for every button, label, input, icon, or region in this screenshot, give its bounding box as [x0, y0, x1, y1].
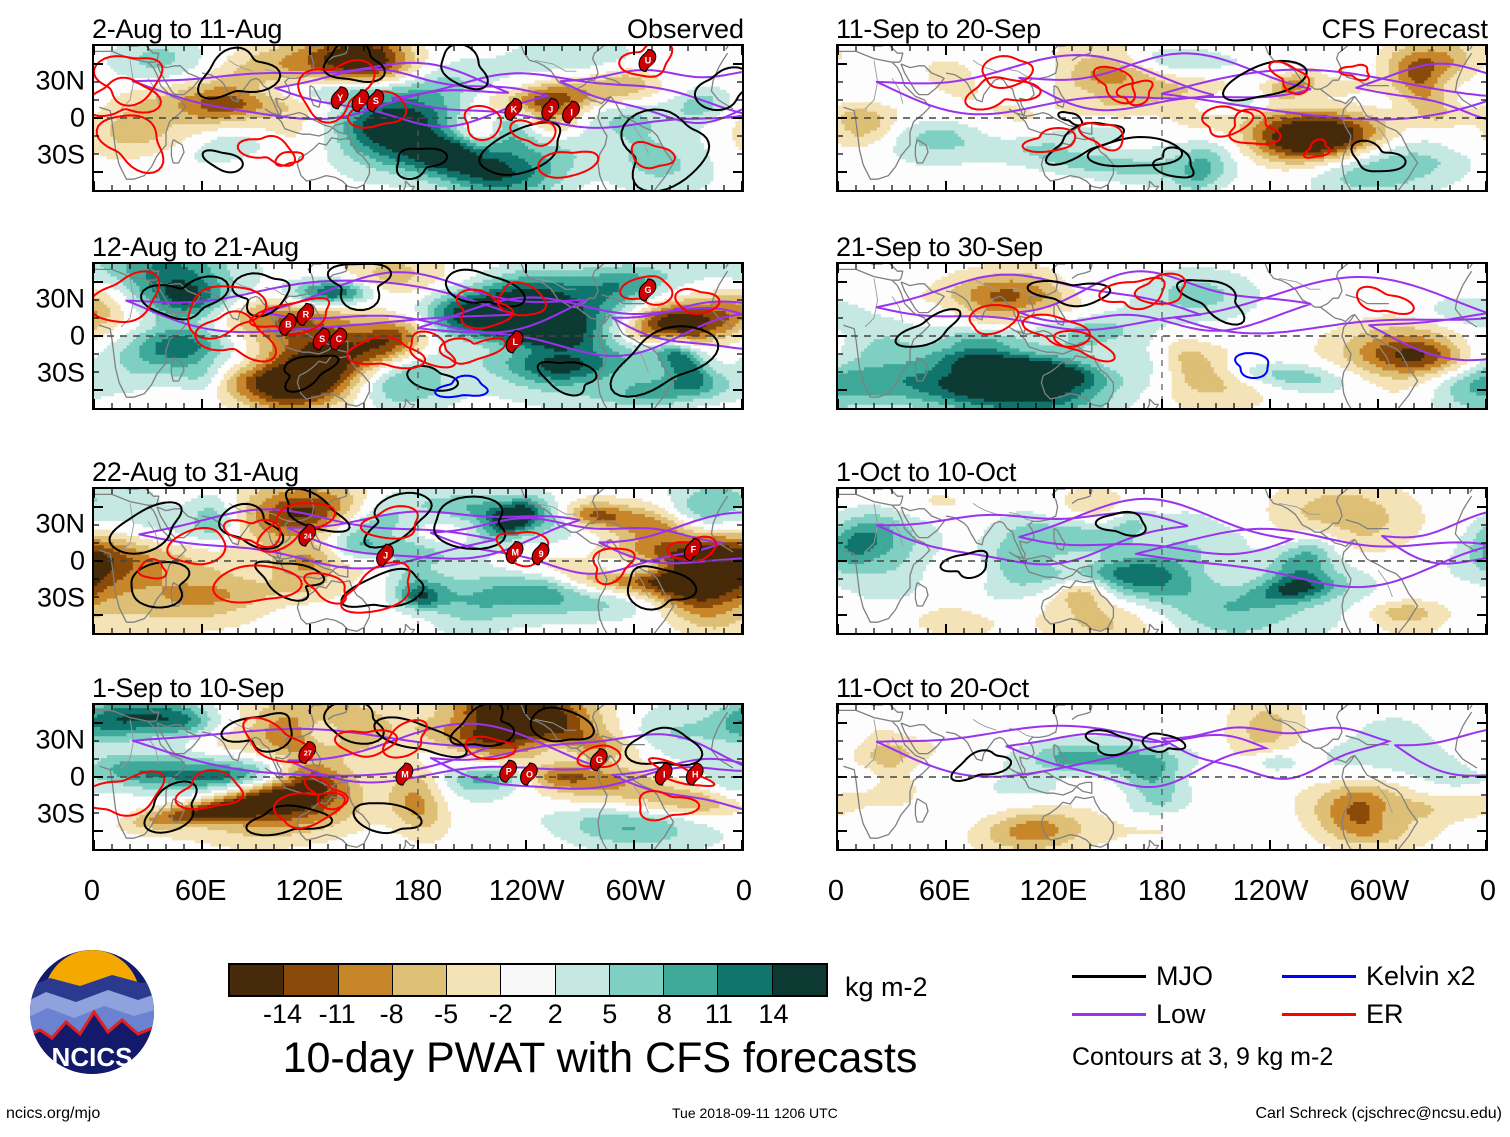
- map-canvas: 27MPOGIH: [92, 703, 744, 851]
- map-canvas: BRSCLG: [92, 262, 744, 410]
- legend-line-er: [1282, 1013, 1356, 1016]
- panel-title: 21-Sep to 30-Sep: [836, 232, 1043, 263]
- map-svg: [838, 489, 1486, 633]
- column-label-observed: Observed: [627, 14, 744, 45]
- panel-title: 22-Aug to 31-Aug: [92, 457, 299, 488]
- colorbar-swatch-9: [718, 965, 772, 995]
- map-canvas: [836, 262, 1488, 410]
- y-tick-label: 30N: [35, 509, 85, 540]
- legend-label-mjo: MJO: [1156, 961, 1213, 992]
- panel-title: 11-Sep to 20-Sep: [836, 14, 1041, 45]
- legend-line-kelvin: [1282, 975, 1356, 978]
- colorbar-tick-8: 8: [657, 999, 672, 1030]
- legend-label-low: Low: [1156, 999, 1206, 1030]
- panel-title: 1-Sep to 10-Sep: [92, 673, 284, 704]
- figure-root: 2-Aug to 11-Aug Observed UYLSKJI 30N030S…: [0, 0, 1510, 1137]
- colorbar-swatch-8: [664, 965, 718, 995]
- legend-label-kelvin: Kelvin x2: [1366, 961, 1476, 992]
- x-axis-labels-right: 060E120E180120W60W0: [836, 875, 1488, 909]
- ncics-logo: NCICS: [22, 942, 162, 1082]
- panel-fcst-4: 11-Oct to 20-Oct: [836, 703, 1488, 851]
- legend-label-er: ER: [1366, 999, 1404, 1030]
- colorbar-swatch-4: [447, 965, 501, 995]
- x-tick-label: 120W: [1233, 875, 1309, 908]
- ncics-logo-text: NCICS: [52, 1042, 133, 1072]
- panel-obs-1: 2-Aug to 11-Aug Observed UYLSKJI 30N030S: [92, 44, 744, 192]
- panel-title: 11-Oct to 20-Oct: [836, 673, 1029, 704]
- x-tick-label: 0: [1480, 875, 1496, 908]
- colorbar-tick-5: 5: [602, 999, 617, 1030]
- x-tick-label: 60W: [1350, 875, 1410, 908]
- colorbar-swatch-3: [393, 965, 447, 995]
- legend-row: Low ER: [1072, 995, 1492, 1033]
- panel-title: 2-Aug to 11-Aug: [92, 14, 282, 45]
- legend-item-er: ER: [1282, 999, 1492, 1030]
- panel-obs-2: 12-Aug to 21-Aug BRSCLG 30N030S: [92, 262, 744, 410]
- colorbar-tick-11: 11: [705, 999, 733, 1030]
- colorbar-swatch-6: [556, 965, 610, 995]
- x-tick-label: 180: [1138, 875, 1186, 908]
- map-svg: [838, 264, 1486, 408]
- x-tick-label: 120E: [275, 875, 343, 908]
- colorbar-tick--14: -14: [263, 999, 302, 1030]
- map-svg: UYLSKJI: [94, 46, 742, 190]
- cyclone-marker: U: [639, 49, 656, 71]
- legend-line-mjo: [1072, 975, 1146, 978]
- wave-contour: [1357, 287, 1414, 314]
- colorbar-tick-14: 14: [758, 999, 788, 1030]
- colorbar-tick-labels: -14-11-8-5-22581114: [228, 999, 828, 1033]
- map-canvas: [836, 487, 1488, 635]
- page-title: 10-day PWAT with CFS forecasts: [200, 1034, 1000, 1083]
- panel-fcst-1: 11-Sep to 20-Sep CFS Forecast: [836, 44, 1488, 192]
- x-tick-label: 60W: [606, 875, 666, 908]
- map-svg: [838, 705, 1486, 849]
- colorbar: -14-11-8-5-22581114: [228, 963, 828, 1033]
- x-tick-label: 60E: [919, 875, 971, 908]
- map-canvas: UYLSKJI: [92, 44, 744, 192]
- legend-item-kelvin: Kelvin x2: [1282, 961, 1492, 992]
- colorbar-tick--5: -5: [434, 999, 458, 1030]
- y-tick-label: 30N: [35, 66, 85, 97]
- colorbar-tick-2: 2: [548, 999, 563, 1030]
- colorbar-swatch-2: [339, 965, 393, 995]
- y-tick-label: 0: [70, 321, 85, 352]
- panel-title: 12-Aug to 21-Aug: [92, 232, 299, 263]
- map-canvas: [836, 703, 1488, 851]
- legend-item-mjo: MJO: [1072, 961, 1282, 992]
- contour-legend: MJO Kelvin x2 Low ER: [1072, 957, 1492, 1033]
- map-svg: [838, 46, 1486, 190]
- contour-interval-note: Contours at 3, 9 kg m-2: [1072, 1043, 1333, 1072]
- colorbar-swatch-1: [284, 965, 338, 995]
- panel-fcst-2: 21-Sep to 30-Sep: [836, 262, 1488, 410]
- legend-row: MJO Kelvin x2: [1072, 957, 1492, 995]
- y-tick-label: 30S: [37, 140, 85, 171]
- map-svg: BRSCLG: [94, 264, 742, 408]
- footer-site-link[interactable]: ncics.org/mjo: [6, 1105, 100, 1123]
- map-canvas: [836, 44, 1488, 192]
- y-tick-label: 0: [70, 762, 85, 793]
- colorbar-units-label: kg m-2: [845, 972, 928, 1003]
- map-svg: 24JM9F: [94, 489, 742, 633]
- x-tick-label: 60E: [175, 875, 227, 908]
- panel-title: 1-Oct to 10-Oct: [836, 457, 1016, 488]
- x-axis-labels-left: 060E120E180120W60W0: [92, 875, 744, 909]
- footer-timestamp: Tue 2018-09-11 1206 UTC: [672, 1105, 838, 1121]
- panel-fcst-3: 1-Oct to 10-Oct: [836, 487, 1488, 635]
- y-tick-label: 30S: [37, 583, 85, 614]
- colorbar-tick--11: -11: [319, 999, 356, 1030]
- panel-obs-3: 22-Aug to 31-Aug 24JM9F 30N030S: [92, 487, 744, 635]
- y-tick-label: 30N: [35, 725, 85, 756]
- x-tick-label: 120W: [489, 875, 565, 908]
- legend-line-low: [1072, 1013, 1146, 1016]
- y-tick-label: 30S: [37, 799, 85, 830]
- map-canvas: 24JM9F: [92, 487, 744, 635]
- y-tick-label: 30S: [37, 358, 85, 389]
- colorbar-swatch-10: [773, 965, 826, 995]
- x-tick-label: 0: [828, 875, 844, 908]
- panel-obs-4: 1-Sep to 10-Sep 27MPOGIH 30N030S: [92, 703, 744, 851]
- x-tick-label: 120E: [1019, 875, 1087, 908]
- ncics-logo-icon: NCICS: [22, 942, 162, 1082]
- colorbar-swatch-0: [230, 965, 284, 995]
- colorbar-swatches: [228, 963, 828, 997]
- footer-author: Carl Schreck (cjschrec@ncsu.edu): [1255, 1105, 1502, 1123]
- colorbar-tick--8: -8: [380, 999, 404, 1030]
- colorbar-swatch-7: [610, 965, 664, 995]
- column-label-forecast: CFS Forecast: [1321, 14, 1488, 45]
- wave-contour: [983, 56, 1033, 88]
- map-svg: 27MPOGIH: [94, 705, 742, 849]
- y-tick-label: 30N: [35, 284, 85, 315]
- x-tick-label: 180: [394, 875, 442, 908]
- y-tick-label: 0: [70, 103, 85, 134]
- x-tick-label: 0: [736, 875, 752, 908]
- colorbar-tick--2: -2: [489, 999, 513, 1030]
- legend-item-low: Low: [1072, 999, 1282, 1030]
- colorbar-swatch-5: [501, 965, 555, 995]
- y-tick-label: 0: [70, 546, 85, 577]
- x-tick-label: 0: [84, 875, 100, 908]
